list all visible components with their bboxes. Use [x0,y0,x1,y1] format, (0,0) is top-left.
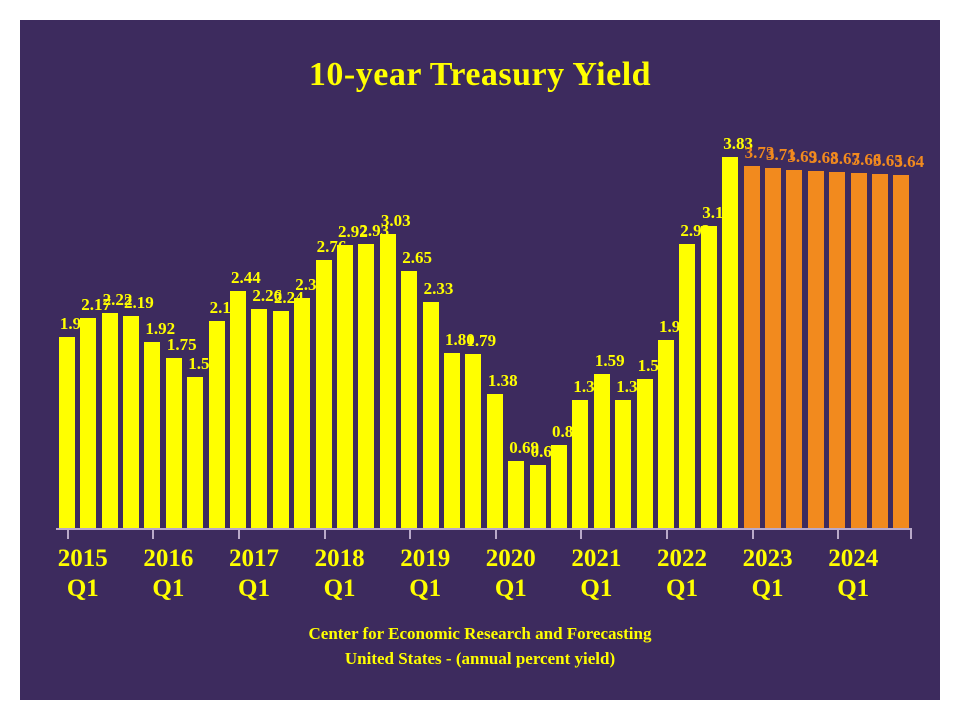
bar-value-label: 2.65 [397,248,437,268]
bar [572,400,588,528]
bar-value-label: 1.79 [461,331,501,351]
chart-container: 10-year Treasury Yield 1.972.172.222.191… [20,20,940,700]
x-axis-tick [666,530,668,539]
bar [358,244,374,528]
bar [808,171,824,528]
x-axis-tick [837,530,839,539]
bar-value-label: 2.33 [419,279,459,299]
bar-value-label: 1.59 [590,351,630,371]
bar [765,168,781,528]
bar-value-label: 2.19 [119,293,159,313]
bar [80,318,96,528]
bar [594,374,610,528]
x-axis-tick [495,530,497,539]
bar [551,445,567,528]
bar [59,337,75,528]
plot-area: 1.972.172.222.191.921.751.562.132.442.26… [56,140,912,528]
bar [273,311,289,528]
bar [508,461,524,528]
bar [786,170,802,528]
bar [679,244,695,528]
bar [530,465,546,528]
bar-value-label: 3.03 [376,211,416,231]
bar-value-label: 3.64 [889,152,929,172]
bar [401,271,417,528]
bar [316,260,332,528]
x-axis-tick [152,530,154,539]
bar [294,298,310,528]
chart-title: 10-year Treasury Yield [20,56,940,94]
bar [851,173,867,528]
bar [658,340,674,528]
bar [701,226,717,528]
bar [166,358,182,528]
bar [893,175,909,528]
footer-line-2: United States - (annual percent yield) [20,647,940,672]
bar [251,309,267,528]
x-axis-tick [752,530,754,539]
bar [465,354,481,528]
bar [123,316,139,528]
x-axis-label-quarter: Q1 [798,574,908,604]
bar [744,166,760,528]
bar [615,400,631,528]
x-axis-label-year: 2024 [798,544,908,574]
bar [872,174,888,528]
bar [187,377,203,528]
x-axis-tick [409,530,411,539]
x-axis-tick [238,530,240,539]
x-axis-label-2024: 2024Q1 [798,544,908,603]
chart-footer: Center for Economic Research and Forecas… [20,622,940,671]
x-axis-tick [580,530,582,539]
bar [444,353,460,528]
x-axis-line [56,528,912,530]
bar [487,394,503,528]
bar [337,245,353,528]
bar-value-label: 1.75 [162,335,202,355]
x-axis-tick [910,530,912,539]
bar-value-label: 1.38 [483,371,523,391]
bar [423,302,439,528]
bar [637,379,653,528]
bar [380,234,396,528]
bar [230,291,246,528]
bar [829,172,845,528]
x-axis-tick [67,530,69,539]
bar [144,342,160,528]
x-axis-tick [324,530,326,539]
bar [722,157,738,529]
bar [209,321,225,528]
bar [102,313,118,528]
footer-line-1: Center for Economic Research and Forecas… [20,622,940,647]
